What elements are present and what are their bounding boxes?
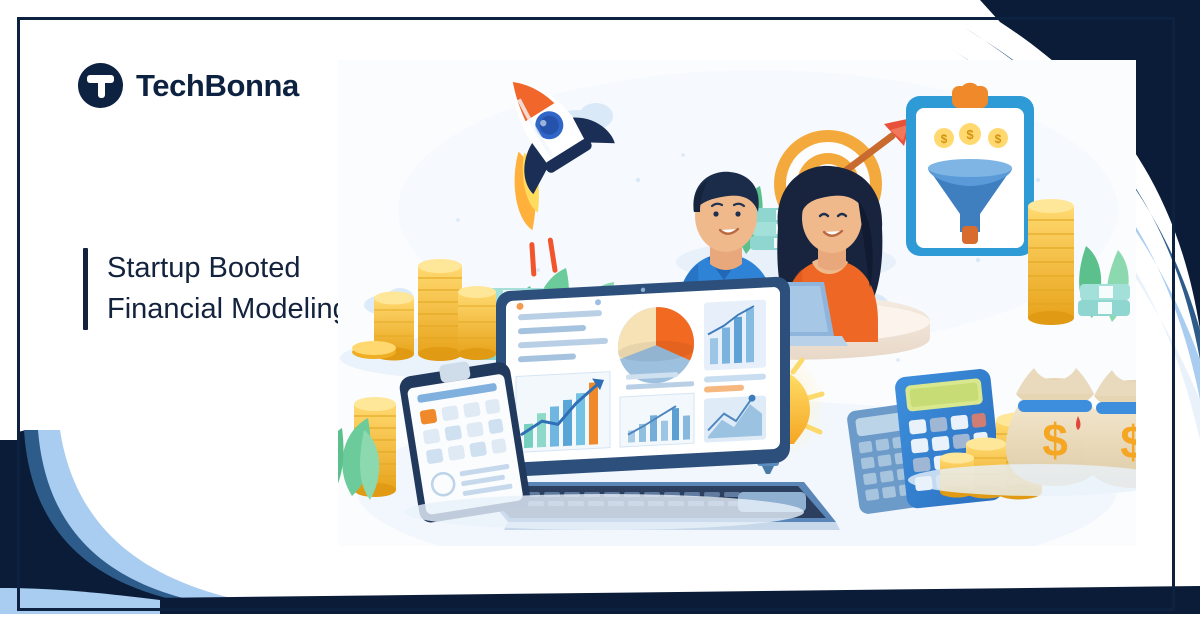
brand-logo[interactable]: TechBonna [78,63,299,108]
poster-canvas: TechBonna Startup Booted Financial Model… [0,0,1200,630]
cash-bundles [1078,284,1130,316]
page-title: Startup Booted Financial Modeling [83,248,349,330]
techbonna-t-logo-icon [78,63,123,108]
svg-text:$: $ [1042,414,1068,466]
svg-text:$: $ [941,132,948,146]
brand-name: TechBonna [136,68,299,104]
svg-text:$: $ [995,132,1002,146]
svg-text:$: $ [1120,416,1136,468]
laptop-dashboard [476,276,840,530]
bottom-left-swoosh [0,430,288,608]
clipboard-funnel: $ $ $ [906,85,1034,256]
title-line-2: Financial Modeling [107,289,349,330]
title-line-1: Startup Booted [107,248,349,289]
bar-chart [516,372,610,453]
hero-illustration: $ $ $ [338,60,1136,546]
title-accent-bar [83,248,88,330]
svg-text:$: $ [966,127,974,142]
illustration-svg: $ $ $ [338,60,1136,546]
